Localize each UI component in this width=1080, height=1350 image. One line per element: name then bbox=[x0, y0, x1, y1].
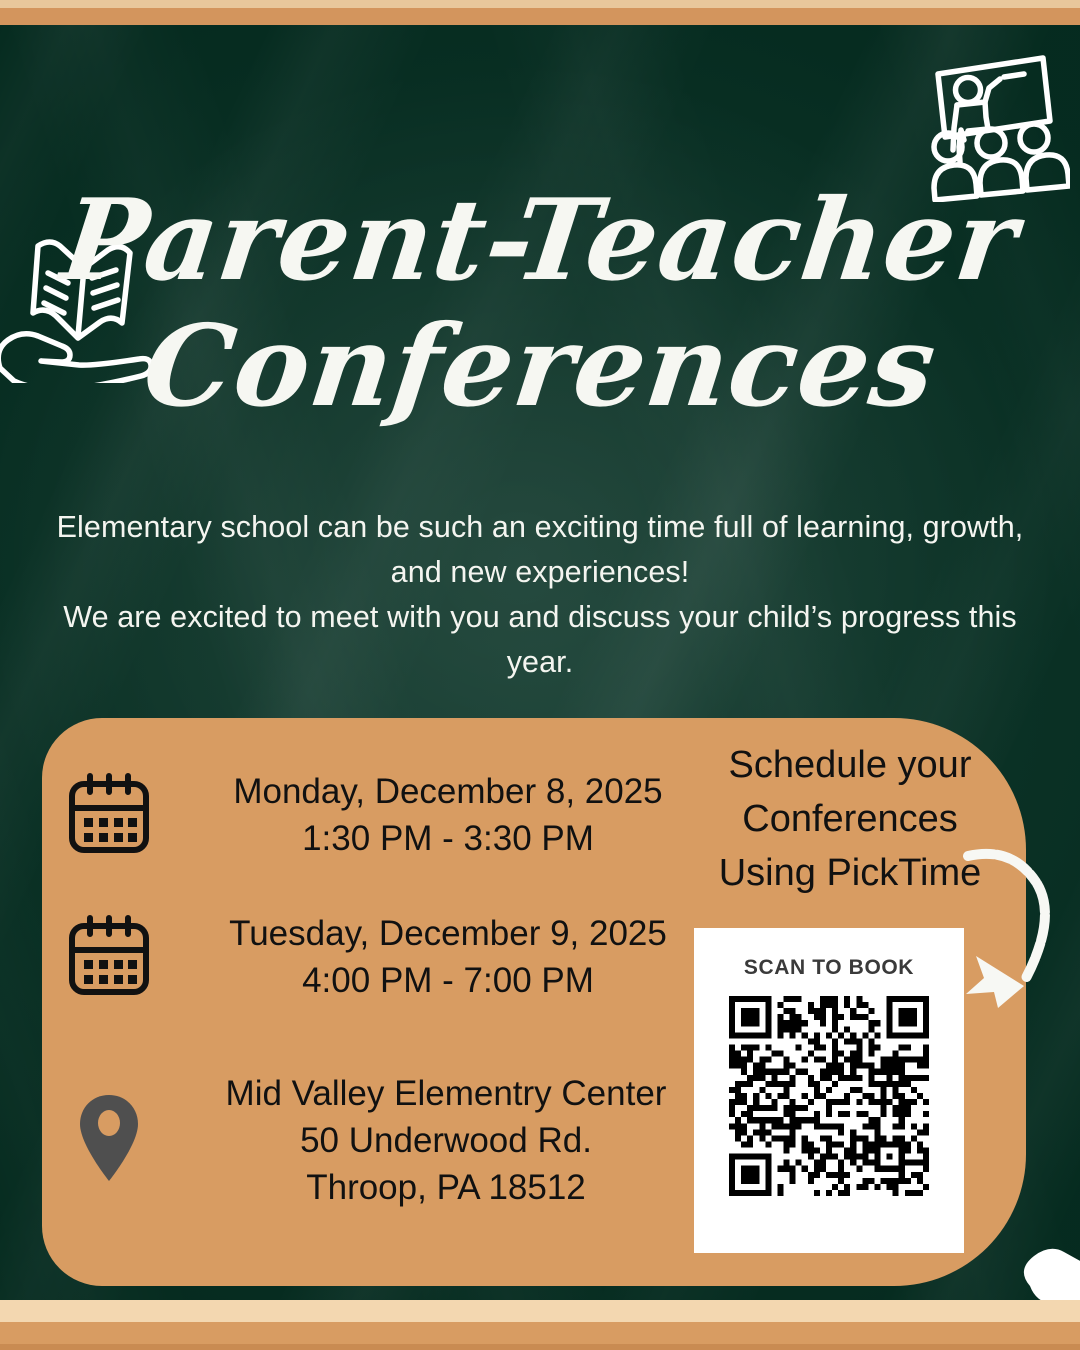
calendar-icon bbox=[66, 770, 152, 861]
calendar-icon bbox=[66, 912, 152, 1003]
frame-top-light-band bbox=[0, 0, 1080, 8]
location-street: 50 Underwood Rd. bbox=[166, 1117, 726, 1164]
intro-line-3: We are excited to meet with you and disc… bbox=[34, 595, 1046, 640]
session-time-2: 4:00 PM - 7:00 PM bbox=[170, 957, 726, 1004]
location-name: Mid Valley Elementry Center bbox=[166, 1070, 726, 1117]
details-rows: Monday, December 8, 2025 1:30 PM - 3:30 … bbox=[42, 718, 742, 1286]
location-city-state-zip: Throop, PA 18512 bbox=[166, 1164, 726, 1211]
session-text-2: Tuesday, December 9, 2025 4:00 PM - 7:00… bbox=[170, 910, 726, 1004]
frame-top-tan-band bbox=[0, 8, 1080, 25]
open-book-in-hand-icon bbox=[0, 218, 172, 383]
session-row-1: Monday, December 8, 2025 1:30 PM - 3:30 … bbox=[66, 768, 726, 862]
booking-heading-line-2: Conferences bbox=[700, 792, 1000, 846]
frame-bottom-dark-band bbox=[0, 1344, 1080, 1350]
booking-heading: Schedule your Conferences Using PickTime bbox=[700, 738, 1000, 900]
chalk-stick-icon bbox=[1012, 1246, 1080, 1308]
teacher-at-board-icon bbox=[912, 52, 1070, 202]
session-date-1: Monday, December 8, 2025 bbox=[170, 768, 726, 815]
qr-card[interactable]: SCAN TO BOOK bbox=[694, 928, 964, 1253]
session-date-2: Tuesday, December 9, 2025 bbox=[170, 910, 726, 957]
qr-code-icon[interactable] bbox=[729, 996, 929, 1196]
curved-arrow-down-icon bbox=[958, 838, 1070, 1010]
session-text-1: Monday, December 8, 2025 1:30 PM - 3:30 … bbox=[170, 768, 726, 862]
location-text: Mid Valley Elementry Center 50 Underwood… bbox=[166, 1070, 726, 1211]
map-pin-icon bbox=[78, 1093, 140, 1188]
booking-heading-line-1: Schedule your bbox=[700, 738, 1000, 792]
location-row: Mid Valley Elementry Center 50 Underwood… bbox=[66, 1070, 726, 1211]
frame-bottom-cream-band bbox=[0, 1300, 1080, 1322]
booking-heading-line-3: Using PickTime bbox=[700, 846, 1000, 900]
frame-bottom-tan-band bbox=[0, 1322, 1080, 1344]
intro-line-2: and new experiences! bbox=[34, 550, 1046, 595]
intro-line-1: Elementary school can be such an excitin… bbox=[34, 505, 1046, 550]
poster-canvas: Parent-Teacher Conferences Elementary sc… bbox=[0, 0, 1080, 1350]
intro-paragraph: Elementary school can be such an excitin… bbox=[34, 505, 1046, 685]
session-time-1: 1:30 PM - 3:30 PM bbox=[170, 815, 726, 862]
intro-line-4: year. bbox=[34, 640, 1046, 685]
qr-card-label: SCAN TO BOOK bbox=[744, 956, 914, 980]
session-row-2: Tuesday, December 9, 2025 4:00 PM - 7:00… bbox=[66, 910, 726, 1004]
